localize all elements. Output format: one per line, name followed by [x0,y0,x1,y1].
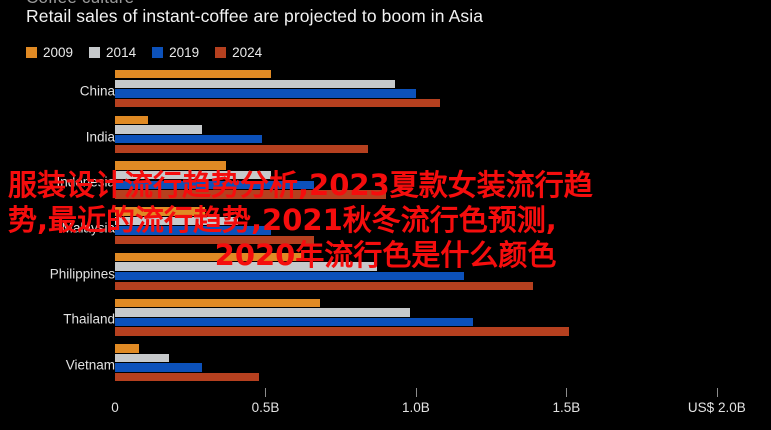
bar-2019[interactable] [115,135,262,143]
bar-2019[interactable] [115,318,473,326]
bar-2014[interactable] [115,80,395,88]
legend-swatch-icon [26,47,37,58]
bar-row: China [0,68,771,114]
axis-tick [265,388,266,397]
bar-group [115,159,771,205]
bar-row: Thailand [0,297,771,343]
chart-title: Retail sales of instant-coffee are proje… [26,6,483,27]
bar-rows: ChinaIndiaIndonesiaMalaysiaPhilippinesTh… [0,68,771,388]
category-label: Malaysia [0,220,115,235]
category-label: Vietnam [0,358,115,373]
bar-2024[interactable] [115,373,259,381]
legend-item[interactable]: 2009 [26,45,73,60]
bar-2014[interactable] [115,308,410,316]
axis-tick [566,388,567,397]
axis-tick-label: 1.0B [402,400,430,415]
chart-legend: 2009201420192024 [26,45,262,60]
bar-2024[interactable] [115,99,440,107]
bar-2009[interactable] [115,344,139,352]
plot-area: ChinaIndiaIndonesiaMalaysiaPhilippinesTh… [0,68,771,388]
bar-group [115,342,771,388]
axis-tick-label: US$ 2.0B [688,400,746,415]
bar-group [115,114,771,160]
bar-row: Vietnam [0,342,771,388]
bar-2009[interactable] [115,70,271,78]
bar-2019[interactable] [115,363,202,371]
axis-tick-label: 0.5B [252,400,280,415]
bar-2019[interactable] [115,272,464,280]
legend-label: 2009 [43,45,73,60]
legend-swatch-icon [89,47,100,58]
legend-item[interactable]: 2019 [152,45,199,60]
legend-label: 2024 [232,45,262,60]
category-label: Thailand [0,312,115,327]
bar-2009[interactable] [115,116,148,124]
bar-row: Malaysia [0,205,771,251]
legend-item[interactable]: 2024 [215,45,262,60]
bar-2014[interactable] [115,354,169,362]
bar-group [115,297,771,343]
bar-2009[interactable] [115,161,226,169]
legend-label: 2014 [106,45,136,60]
x-axis: 00.5B1.0B1.5BUS$ 2.0B [0,388,771,430]
axis-tick [717,388,718,397]
bar-2014[interactable] [115,217,238,225]
bar-2024[interactable] [115,236,314,244]
bar-2019[interactable] [115,226,271,234]
bar-2009[interactable] [115,207,205,215]
bar-2014[interactable] [115,262,377,270]
legend-swatch-icon [215,47,226,58]
category-label: Indonesia [0,175,115,190]
legend-item[interactable]: 2014 [89,45,136,60]
bar-group [115,68,771,114]
bar-row: Philippines [0,251,771,297]
bar-2024[interactable] [115,282,533,290]
chart-root: Coffee culture Retail sales of instant-c… [0,0,771,430]
bar-2019[interactable] [115,181,314,189]
category-label: China [0,83,115,98]
bar-2024[interactable] [115,327,569,335]
category-label: Philippines [0,266,115,281]
bar-2014[interactable] [115,125,202,133]
bar-group [115,205,771,251]
legend-label: 2019 [169,45,199,60]
bar-row: India [0,114,771,160]
bar-2019[interactable] [115,89,416,97]
bar-2009[interactable] [115,253,302,261]
legend-swatch-icon [152,47,163,58]
bar-2009[interactable] [115,299,320,307]
bar-2024[interactable] [115,190,386,198]
axis-tick-label: 0 [111,400,119,415]
bar-2024[interactable] [115,145,368,153]
bar-row: Indonesia [0,159,771,205]
bar-2014[interactable] [115,171,271,179]
axis-tick [416,388,417,397]
axis-tick-label: 1.5B [552,400,580,415]
bar-group [115,251,771,297]
category-label: India [0,129,115,144]
